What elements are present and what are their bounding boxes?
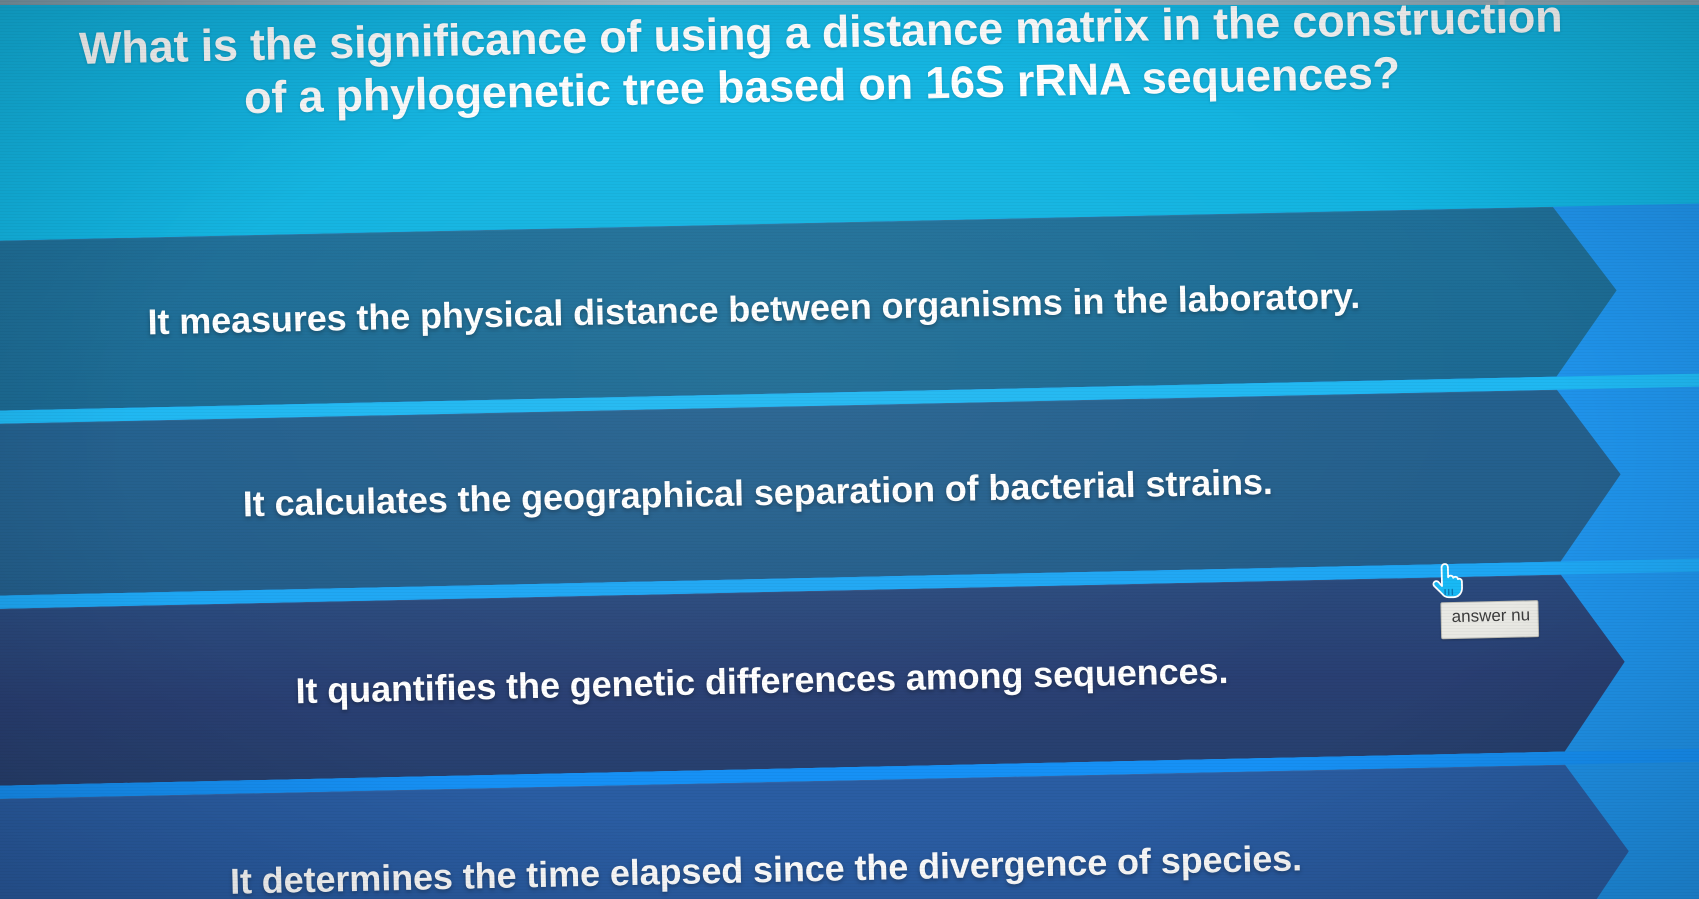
answer-option-3-label: It quantifies the genetic differences am…: [235, 647, 1319, 713]
answer-option-4-label: It determines the time elapsed since the…: [170, 835, 1393, 899]
hover-tooltip: answer nu: [1440, 600, 1539, 639]
answer-option-1-label: It measures the physical distance betwee…: [87, 273, 1450, 345]
screen-photo: What is the significance of using a dist…: [0, 0, 1699, 899]
question-banner: What is the significance of using a dist…: [0, 0, 1699, 242]
question-text: What is the significance of using a dist…: [70, 0, 1572, 128]
quiz-screen: What is the significance of using a dist…: [0, 0, 1699, 899]
answer-option-3[interactable]: It quantifies the genetic differences am…: [0, 573, 1627, 786]
answer-options-list: It measures the physical distance betwee…: [0, 203, 1699, 899]
monitor-bezel-strip: [0, 0, 1699, 5]
answer-option-2-label: It calculates the geographical separatio…: [182, 459, 1363, 527]
